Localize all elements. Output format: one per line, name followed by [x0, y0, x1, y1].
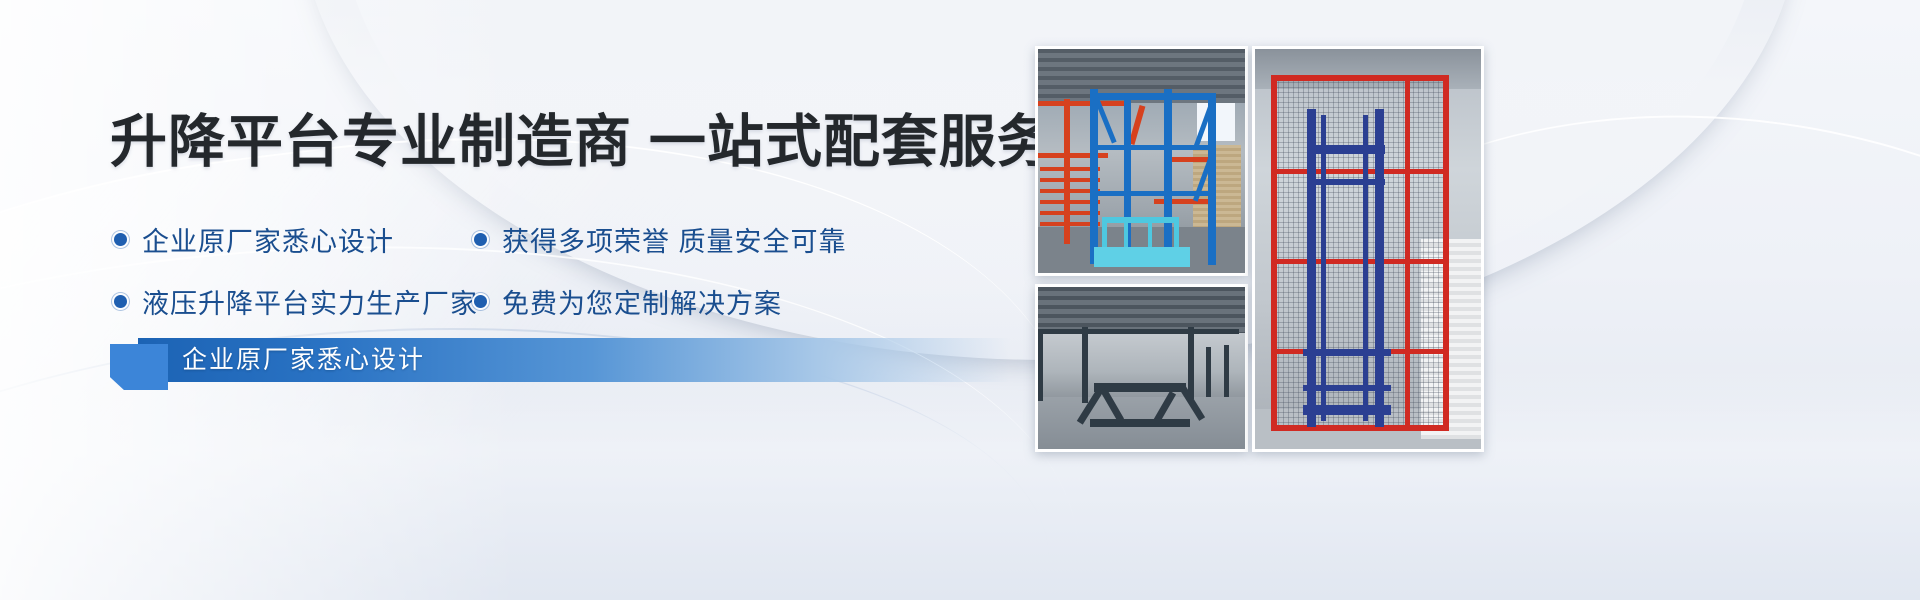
banner-headline: 升降平台专业制造商 一站式配套服务 [110, 110, 1055, 174]
feature-bullet-row: 液压升降平台实力生产厂家 免费为您定制解决方案 [114, 270, 974, 332]
banner-content: 升降平台专业制造商 一站式配套服务 企业原厂家悉心设计 获得多项荣誉 质量安全可… [110, 0, 1070, 600]
feature-bullet-label: 获得多项荣誉 质量安全可靠 [502, 220, 847, 259]
photo-collage [1035, 46, 1735, 492]
feature-bullet-item: 企业原厂家悉心设计 [114, 220, 474, 259]
photo-cage-guide-rail-lift-image [1255, 49, 1481, 449]
promo-banner: 升降平台专业制造商 一站式配套服务 企业原厂家悉心设计 获得多项荣誉 质量安全可… [0, 0, 1920, 600]
bullet-dot-icon [114, 233, 127, 246]
photo-cage-guide-rail-lift [1252, 46, 1484, 452]
photo-scissor-lift-workshop [1035, 284, 1248, 452]
feature-bullet-label: 液压升降平台实力生产厂家 [142, 282, 478, 321]
feature-bullet-item: 免费为您定制解决方案 [474, 282, 914, 321]
bullet-dot-icon [474, 233, 487, 246]
photo-warehouse-racking-lift [1035, 46, 1248, 276]
highlight-ribbon: 企业原厂家悉心设计 [110, 338, 1010, 382]
feature-bullet-row: 企业原厂家悉心设计 获得多项荣誉 质量安全可靠 [114, 208, 974, 270]
bullet-dot-icon [114, 295, 127, 308]
arrow-tab-icon [110, 344, 168, 390]
photo-scissor-lift-workshop-image [1038, 287, 1245, 449]
feature-bullet-label: 企业原厂家悉心设计 [142, 220, 394, 259]
feature-bullet-label: 免费为您定制解决方案 [502, 282, 782, 321]
feature-bullet-item: 液压升降平台实力生产厂家 [114, 282, 474, 321]
bullet-dot-icon [474, 295, 487, 308]
feature-bullet-item: 获得多项荣誉 质量安全可靠 [474, 220, 914, 259]
ribbon-label: 企业原厂家悉心设计 [182, 338, 425, 382]
feature-bullet-list: 企业原厂家悉心设计 获得多项荣誉 质量安全可靠 液压升降平台实力生产厂家 免费为… [114, 208, 974, 332]
photo-warehouse-racking-lift-image [1038, 49, 1245, 273]
